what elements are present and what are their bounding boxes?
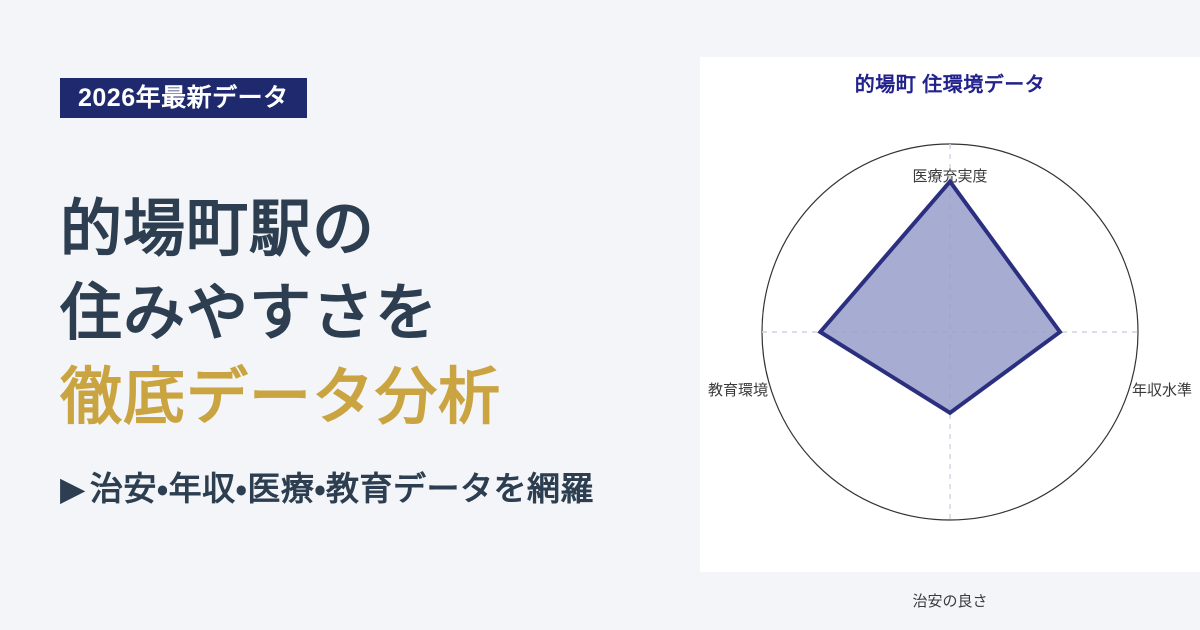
radar-axis-label-top: 医療充実度 <box>700 165 1200 186</box>
latest-data-badge: 2026年最新データ <box>60 78 307 118</box>
subtitle: ▶治安・年収・医療・教育データを網羅 <box>60 466 594 512</box>
radar-chart-svg <box>700 57 1200 572</box>
headline-line-3-accent: 徹底データ分析 <box>60 356 680 440</box>
headline-line-2: 住みやすさを <box>60 272 680 356</box>
radar-axis-label-right: 年収水準 <box>1132 379 1192 400</box>
radar-axis-label-left: 教育環境 <box>708 379 768 400</box>
page-title: 的場町駅の 住みやすさを 徹底データ分析 <box>60 188 680 440</box>
left-text-column: 2026年最新データ 的場町駅の 住みやすさを 徹底データ分析 ▶治安・年収・医… <box>60 0 700 630</box>
poster-canvas: 2026年最新データ 的場町駅の 住みやすさを 徹底データ分析 ▶治安・年収・医… <box>0 0 1200 630</box>
radar-chart-panel: 的場町 住環境データ 医療充実度 年収水準 治安の良さ 教育環境 <box>700 57 1200 572</box>
triangle-right-icon: ▶ <box>60 466 86 512</box>
subtitle-text: 治安・年収・医療・教育データを網羅 <box>90 470 594 507</box>
radar-axis-label-bottom: 治安の良さ <box>700 590 1200 611</box>
headline-line-1: 的場町駅の <box>60 188 680 272</box>
radar-data-polygon <box>820 182 1060 413</box>
